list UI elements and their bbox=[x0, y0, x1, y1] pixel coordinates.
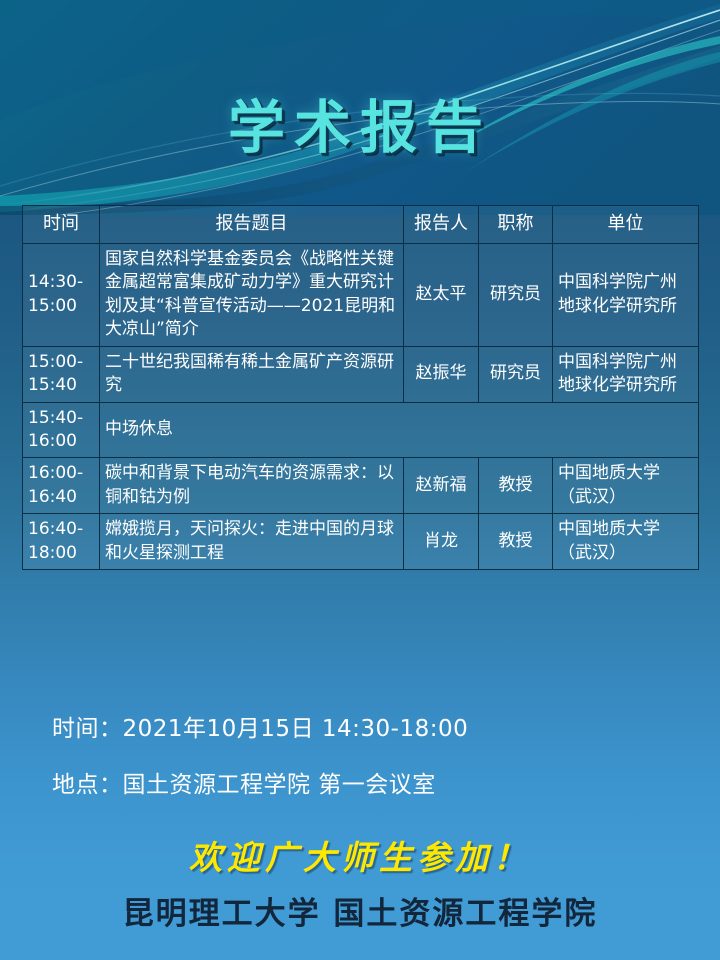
column-header-time: 时间 bbox=[23, 206, 100, 244]
poster-title-container: 学术报告 bbox=[0, 82, 720, 164]
column-header-topic: 报告题目 bbox=[100, 206, 404, 244]
column-header-unit: 单位 bbox=[553, 206, 699, 244]
cell-topic: 碳中和背景下电动汽车的资源需求：以铜和钴为例 bbox=[100, 458, 404, 514]
table-row: 16:00- 16:40 碳中和背景下电动汽车的资源需求：以铜和钴为例 赵新福 … bbox=[23, 458, 699, 514]
cell-rank: 研究员 bbox=[479, 346, 553, 402]
welcome-slogan: 欢迎广大师生参加！ bbox=[0, 831, 720, 879]
page-title: 学术报告 bbox=[228, 82, 492, 164]
event-time-line-container: 时间：2021年10月15日 14:30-18:00 bbox=[52, 716, 692, 744]
cell-time: 15:40- 16:00 bbox=[23, 402, 100, 458]
schedule-table-container: 时间 报告题目 报告人 职称 单位 14:30- 15:00 国家自然科学基金委… bbox=[22, 205, 698, 570]
cell-unit: 中国地质大学（武汉） bbox=[553, 458, 699, 514]
table-header-row: 时间 报告题目 报告人 职称 单位 bbox=[23, 206, 699, 244]
cell-time: 16:00- 16:40 bbox=[23, 458, 100, 514]
cell-unit: 中国科学院广州地球化学研究所 bbox=[553, 243, 699, 346]
cell-topic: 嫦娥揽月，天问探火：走进中国的月球和火星探测工程 bbox=[100, 514, 404, 570]
cell-time: 14:30- 15:00 bbox=[23, 243, 100, 346]
column-header-speaker: 报告人 bbox=[404, 206, 479, 244]
cell-rank: 研究员 bbox=[479, 243, 553, 346]
event-time-line: 时间：2021年10月15日 14:30-18:00 bbox=[52, 716, 692, 744]
cell-topic: 二十世纪我国稀有稀土金属矿产资源研究 bbox=[100, 346, 404, 402]
table-row-break: 15:40- 16:00 中场休息 bbox=[23, 402, 699, 458]
organizer-line: 昆明理工大学 国土资源工程学院 bbox=[0, 888, 720, 933]
cell-unit: 中国地质大学（武汉） bbox=[553, 514, 699, 570]
event-place-line-container: 地点：国土资源工程学院 第一会议室 bbox=[52, 772, 692, 800]
academic-lecture-poster: 学术报告 时间 报告题目 报告人 职称 单位 14:30- 15:00 bbox=[0, 0, 720, 960]
table-row: 15:00- 15:40 二十世纪我国稀有稀土金属矿产资源研究 赵振华 研究员 … bbox=[23, 346, 699, 402]
cell-rank: 教授 bbox=[479, 514, 553, 570]
cell-speaker: 赵太平 bbox=[404, 243, 479, 346]
cell-rank: 教授 bbox=[479, 458, 553, 514]
table-row: 16:40- 18:00 嫦娥揽月，天问探火：走进中国的月球和火星探测工程 肖龙… bbox=[23, 514, 699, 570]
cell-unit: 中国科学院广州地球化学研究所 bbox=[553, 346, 699, 402]
event-place-line: 地点：国土资源工程学院 第一会议室 bbox=[52, 772, 692, 800]
cell-speaker: 赵振华 bbox=[404, 346, 479, 402]
cell-time: 16:40- 18:00 bbox=[23, 514, 100, 570]
cell-topic: 国家自然科学基金委员会《战略性关键金属超常富集成矿动力学》重大研究计划及其“科普… bbox=[100, 243, 404, 346]
cell-speaker: 肖龙 bbox=[404, 514, 479, 570]
table-row: 14:30- 15:00 国家自然科学基金委员会《战略性关键金属超常富集成矿动力… bbox=[23, 243, 699, 346]
cell-break-label: 中场休息 bbox=[100, 402, 699, 458]
cell-time: 15:00- 15:40 bbox=[23, 346, 100, 402]
schedule-table: 时间 报告题目 报告人 职称 单位 14:30- 15:00 国家自然科学基金委… bbox=[22, 205, 699, 570]
column-header-rank: 职称 bbox=[479, 206, 553, 244]
cell-speaker: 赵新福 bbox=[404, 458, 479, 514]
